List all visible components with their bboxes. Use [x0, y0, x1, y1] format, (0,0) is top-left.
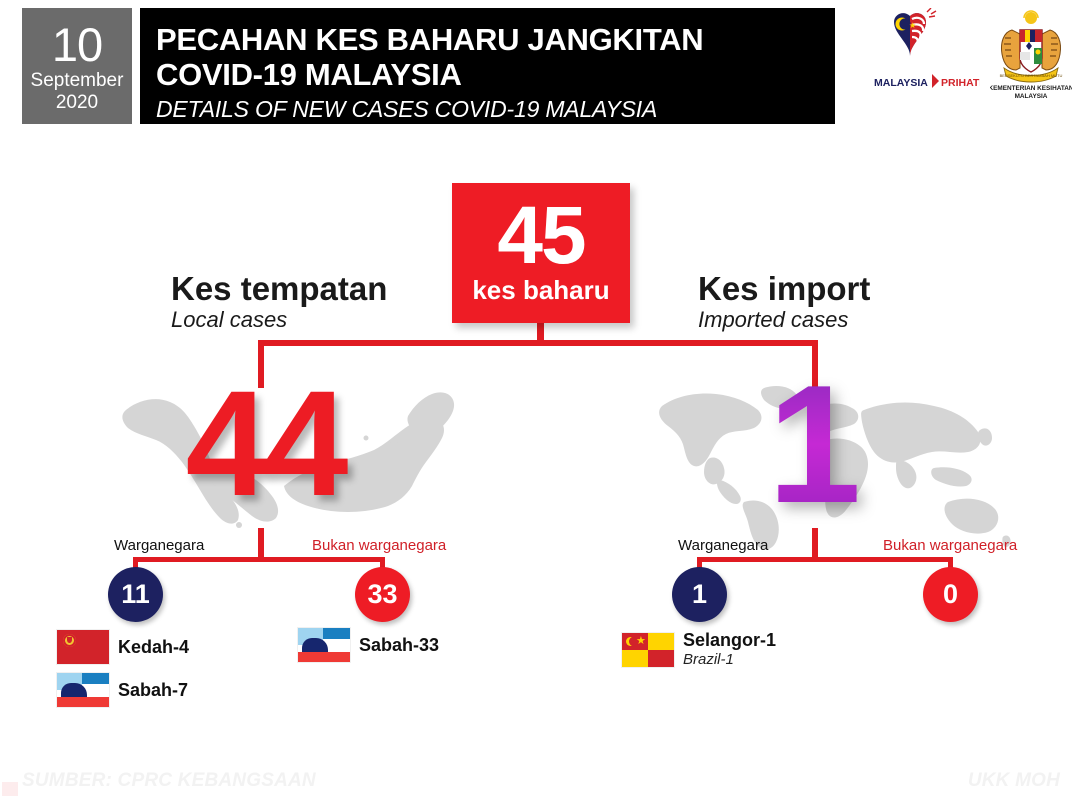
list-item: Sabah-7 — [57, 673, 189, 707]
local-cases-big-number: 44 — [140, 368, 390, 518]
list-item: ★ Selangor-1 Brazil-1 — [622, 630, 776, 669]
footer-credit: UKK MOH — [968, 770, 1060, 792]
local-noncitizen-count: 33 — [367, 579, 397, 610]
kedah-flag — [57, 630, 109, 664]
page-title-line2: COVID-19 MALAYSIA — [156, 57, 835, 92]
sabah-flag — [57, 673, 109, 707]
kkm-text-line2: MALAYSIA — [1015, 93, 1048, 100]
state-label-group: Selangor-1 Brazil-1 — [683, 630, 776, 669]
total-cases-box: 45 kes baharu — [452, 183, 630, 323]
local-citizen-state-list: Kedah-4 Sabah-7 — [57, 630, 189, 707]
date-box: 10 September 2020 — [22, 8, 132, 124]
total-cases-label: kes baharu — [472, 276, 609, 304]
connector-main-horizontal — [258, 340, 818, 346]
state-label: Selangor-1 — [683, 630, 776, 651]
kementerian-kesihatan-logo: BERSEKUTU BERTAMBAH MUTU KEMENTERIAN KES… — [990, 8, 1072, 100]
imported-citizen-label: Warganegara — [678, 537, 768, 555]
state-label: Sabah-7 — [118, 680, 188, 701]
imported-section-subtitle: Imported cases — [698, 307, 848, 333]
local-section-subtitle: Local cases — [171, 307, 287, 333]
local-citizen-label: Warganegara — [114, 537, 204, 555]
imported-branch-horizontal — [697, 557, 953, 562]
header-band: 10 September 2020 PECAHAN KES BAHARU JAN… — [0, 0, 1080, 132]
prihatin-text-malaysia: MALAYSIA — [874, 77, 928, 89]
date-month: September — [31, 71, 124, 90]
list-item: Sabah-33 — [298, 628, 439, 662]
imported-section-title: Kes import — [698, 271, 870, 307]
imported-citizen-state-list: ★ Selangor-1 Brazil-1 — [622, 630, 776, 669]
imported-citizen-count: 1 — [692, 579, 707, 610]
list-item: Kedah-4 — [57, 630, 189, 664]
local-citizen-count-badge: 11 — [108, 567, 163, 622]
svg-text:★: ★ — [909, 21, 916, 30]
prihatin-text-prihatin: PRIHATIN — [941, 77, 980, 89]
page-subtitle: DETAILS OF NEW CASES COVID-19 MALAYSIA — [156, 96, 835, 123]
total-cases-number: 45 — [497, 198, 584, 274]
local-section-title: Kes tempatan — [171, 271, 387, 307]
date-day: 10 — [52, 21, 102, 68]
imported-noncitizen-label: Bukan warganegara — [883, 537, 1017, 555]
title-box: PECAHAN KES BAHARU JANGKITAN COVID-19 MA… — [140, 8, 835, 124]
local-noncitizen-label: Bukan warganegara — [312, 537, 446, 555]
imported-branch-stem — [812, 528, 818, 558]
kkm-text-line1: KEMENTERIAN KESIHATAN — [990, 85, 1072, 92]
local-branch-stem — [258, 528, 264, 558]
origin-country-label: Brazil-1 — [683, 651, 776, 669]
selangor-flag: ★ — [622, 633, 674, 667]
sabah-flag — [298, 628, 350, 662]
date-year: 2020 — [56, 93, 98, 112]
local-branch-horizontal — [133, 557, 385, 562]
page-title-line1: PECAHAN KES BAHARU JANGKITAN — [156, 22, 835, 57]
state-label: Kedah-4 — [118, 637, 189, 658]
imported-noncitizen-count-badge: 0 — [923, 567, 978, 622]
state-label: Sabah-33 — [359, 635, 439, 656]
local-noncitizen-state-list: Sabah-33 — [298, 628, 439, 662]
local-noncitizen-count-badge: 33 — [355, 567, 410, 622]
imported-noncitizen-count: 0 — [943, 579, 958, 610]
imported-cases-big-number: 1 — [705, 360, 920, 528]
svg-text:BERSEKUTU BERTAMBAH MUTU: BERSEKUTU BERTAMBAH MUTU — [1000, 73, 1063, 78]
local-citizen-count: 11 — [121, 579, 150, 610]
footer-mark — [2, 782, 18, 796]
malaysia-prihatin-logo: ★ MALAYSIA PRIHATIN — [872, 8, 980, 100]
imported-citizen-count-badge: 1 — [672, 567, 727, 622]
footer-source: SUMBER: CPRC KEBANGSAAN — [22, 770, 316, 792]
